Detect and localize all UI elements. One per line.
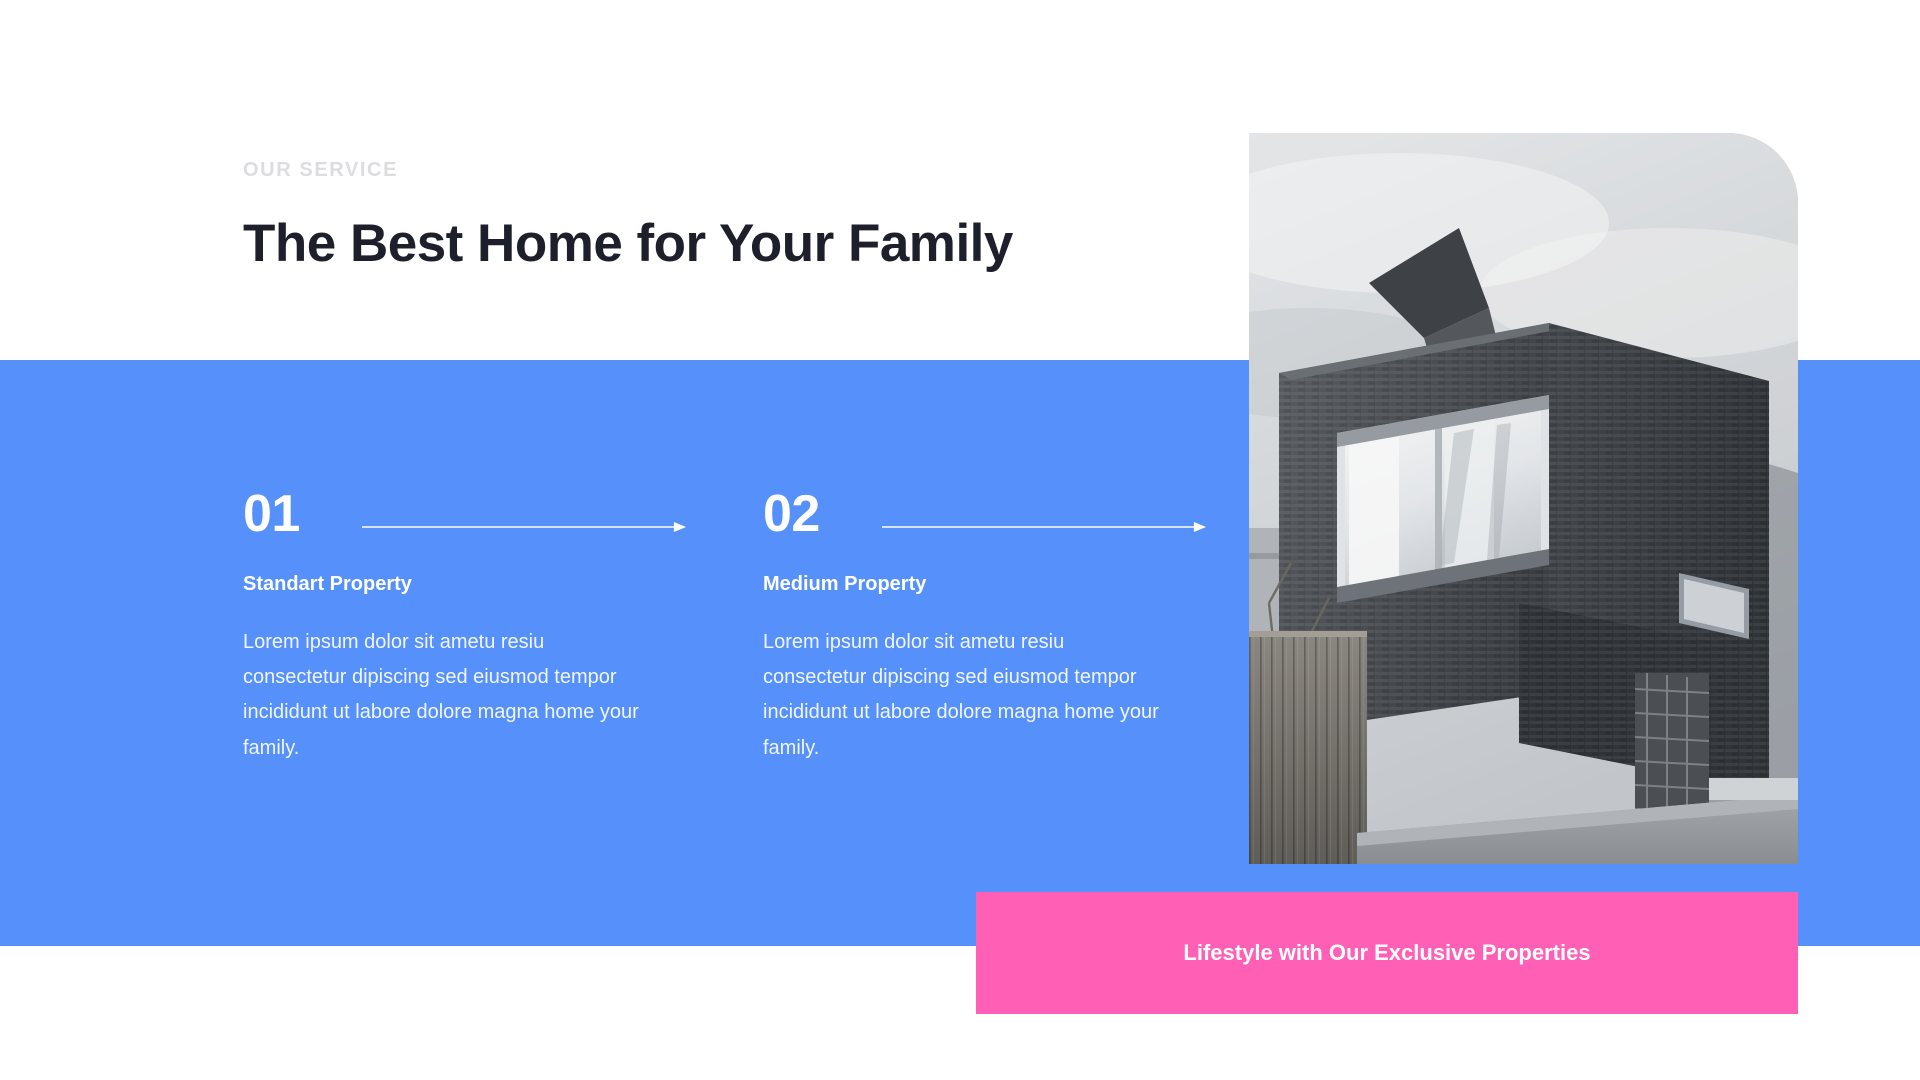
feature-number-02: 02 (763, 488, 820, 540)
feature-body-01: Lorem ipsum dolor sit ametu resiu consec… (243, 625, 643, 766)
eyebrow-label: OUR SERVICE (243, 160, 1143, 180)
feature-number-01: 01 (243, 488, 300, 540)
feature-header-02: 02 (763, 483, 1208, 545)
tagline-banner: Lifestyle with Our Exclusive Properties (976, 892, 1798, 1014)
feature-title-01: Standart Property (243, 572, 688, 596)
feature-list: 01 Standart Property Lorem ipsum dolor s… (243, 483, 1243, 766)
slide-root: OUR SERVICE The Best Home for Your Famil… (0, 0, 1920, 1080)
page-title: The Best Home for Your Family (243, 214, 1143, 273)
feature-item-02: 02 Medium Property Lorem ipsum dolor sit… (763, 483, 1208, 766)
tagline-banner-text: Lifestyle with Our Exclusive Properties (1183, 940, 1590, 966)
feature-title-02: Medium Property (763, 572, 1208, 596)
feature-item-01: 01 Standart Property Lorem ipsum dolor s… (243, 483, 688, 766)
feature-body-02: Lorem ipsum dolor sit ametu resiu consec… (763, 625, 1163, 766)
feature-header-01: 01 (243, 483, 688, 545)
arrow-right-icon (882, 495, 1208, 533)
header-block: OUR SERVICE The Best Home for Your Famil… (243, 160, 1143, 273)
property-photo (1249, 133, 1798, 864)
arrow-right-icon (362, 495, 688, 533)
